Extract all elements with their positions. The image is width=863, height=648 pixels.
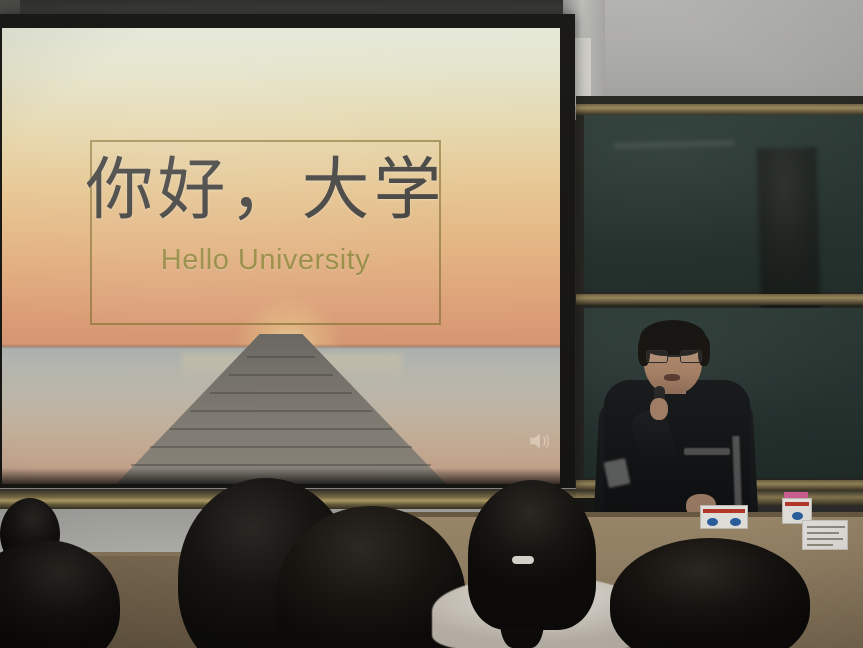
pier-dock	[2, 324, 560, 484]
projection-screen: 你好，大学 Hello University	[2, 28, 560, 484]
pier-plank	[190, 410, 372, 412]
projection-screen-frame: 你好，大学 Hello University	[0, 14, 575, 490]
glasses-lens-right	[680, 350, 702, 363]
presenter-mouth	[664, 374, 680, 381]
student-head	[468, 480, 596, 630]
glasses-lens-left	[646, 350, 668, 363]
pier-plank	[229, 374, 333, 376]
jacket-chest-logo	[684, 448, 730, 455]
slide-title-box: 你好，大学 Hello University	[90, 140, 441, 325]
chalkboard-panel-upper	[584, 114, 863, 292]
pier-plank	[210, 392, 352, 394]
slide-title-chinese: 你好，大学	[86, 152, 446, 230]
box-logo-dot	[792, 512, 803, 520]
chalkboard-rail	[576, 294, 863, 305]
slide-subtitle-english: Hello University	[161, 244, 370, 277]
pier-plank	[150, 446, 412, 448]
product-box	[700, 505, 748, 529]
glasses-bridge	[668, 355, 680, 357]
pier-plank	[247, 356, 315, 358]
lecture-hall-photo: 你好，大学 Hello University	[0, 0, 863, 648]
pier-plank	[170, 428, 392, 430]
chalkboard-rail	[576, 104, 863, 115]
pier-plank	[131, 464, 431, 466]
box-stripe	[703, 509, 745, 513]
paper-notice	[802, 520, 848, 550]
presenter-hand-holding-mic	[650, 398, 668, 420]
notice-text-line	[807, 538, 843, 540]
box-logo-dot	[707, 518, 718, 526]
speaker-icon[interactable]	[527, 428, 553, 454]
chalk-smudge	[614, 140, 734, 148]
notice-text-line	[807, 532, 839, 534]
glasses-icon	[646, 350, 702, 363]
box-stripe	[785, 502, 809, 506]
box-logo-dot	[730, 518, 741, 526]
notice-text-line	[807, 544, 833, 546]
hair-tie	[512, 556, 534, 564]
chalk-smudge	[757, 147, 822, 334]
notice-text-line	[807, 526, 845, 528]
